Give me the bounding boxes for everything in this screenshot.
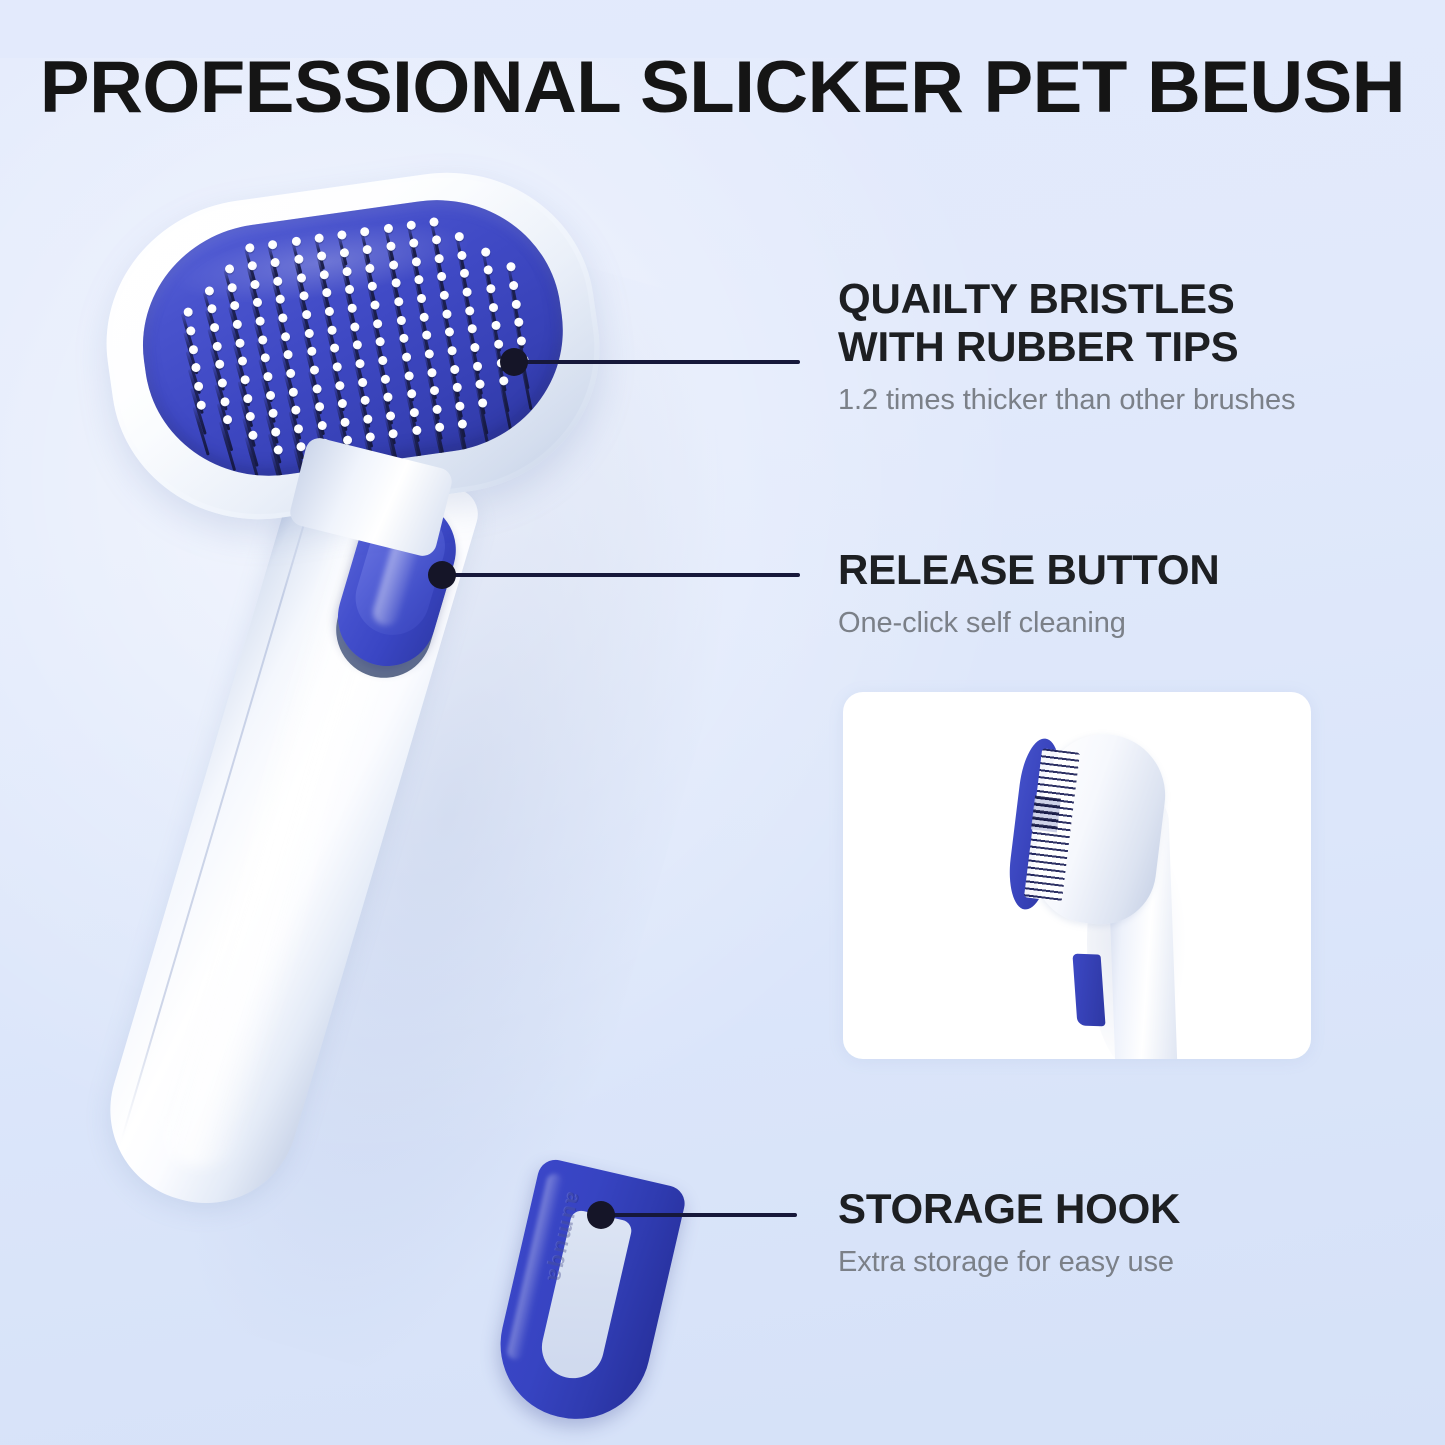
- bristle-rubber-tip: [194, 381, 204, 391]
- bristle-rubber-tip: [355, 359, 365, 369]
- bristle-rubber-tip: [388, 429, 398, 439]
- bristle-rubber-tip: [465, 305, 475, 315]
- bristle-rubber-tip: [324, 306, 334, 316]
- bristle-rubber-tip: [452, 382, 462, 392]
- bristle-rubber-tip: [383, 223, 393, 233]
- bristle-rubber-tip: [276, 294, 286, 304]
- bristle-rubber-tip: [488, 302, 498, 312]
- bristle-rubber-tip: [432, 404, 442, 414]
- bristle-rubber-tip: [439, 290, 449, 300]
- bristle-rubber-tip: [406, 220, 416, 230]
- bristle-rubber-tip: [255, 316, 265, 326]
- bristle-rubber-tip: [350, 322, 360, 332]
- bristle-rubber-tip: [396, 315, 406, 325]
- inset-product-photo: [843, 692, 1311, 1059]
- bristle-rubber-tip: [411, 257, 421, 267]
- bristle-rubber-tip: [183, 307, 193, 317]
- callout-release-headline-line1: RELEASE BUTTON: [838, 546, 1438, 594]
- bristle-rubber-tip: [339, 248, 349, 258]
- bristle-rubber-tip: [475, 379, 485, 389]
- leader-line-hook: [609, 1213, 797, 1217]
- bristle-rubber-tip: [212, 341, 222, 351]
- bristle-rubber-tip: [447, 346, 457, 356]
- bristle-rubber-tip: [332, 362, 342, 372]
- leader-line-release: [450, 573, 800, 577]
- bristle-rubber-tip: [235, 338, 245, 348]
- bristle-rubber-tip: [240, 375, 250, 385]
- bristle-rubber-tip: [314, 233, 324, 243]
- callout-hook-headline: STORAGE HOOK: [838, 1185, 1438, 1233]
- bristle-rubber-tip: [337, 229, 347, 239]
- bristle-rubber-tip: [278, 313, 288, 323]
- bristle-rubber-tip: [370, 300, 380, 310]
- bristle-rubber-tip: [368, 282, 378, 292]
- bristle-rubber-tip: [383, 392, 393, 402]
- bristle-rubber-tip: [273, 276, 283, 286]
- bristle-rubber-tip: [416, 294, 426, 304]
- bristle-rubber-tip: [358, 377, 368, 387]
- bristle-rubber-tip: [365, 263, 375, 273]
- bristle-rubber-tip: [196, 400, 206, 410]
- bristle-rubber-tip: [189, 344, 199, 354]
- bristle-rubber-tip: [245, 242, 255, 252]
- bristle-rubber-tip: [419, 312, 429, 322]
- bristle-rubber-tip: [442, 309, 452, 319]
- bristle-rubber-tip: [462, 287, 472, 297]
- callout-storage-hook: STORAGE HOOK Extra storage for easy use: [838, 1185, 1438, 1280]
- bristle-rubber-tip: [340, 417, 350, 427]
- callout-release-button: RELEASE BUTTON One-click self cleaning: [838, 546, 1438, 641]
- bristle-rubber-tip: [347, 303, 357, 313]
- bristle-rubber-tip: [327, 325, 337, 335]
- leader-line-bristles: [522, 360, 800, 364]
- bristle-rubber-tip: [511, 299, 521, 309]
- leader-dot-bristles-icon: [500, 348, 528, 376]
- bristle-rubber-tip: [427, 367, 437, 377]
- bristle-rubber-tip: [291, 405, 301, 415]
- bristle-rubber-tip: [360, 395, 370, 405]
- bristle-rubber-tip: [386, 411, 396, 421]
- bristle-rubber-tip: [457, 250, 467, 260]
- bristle-rubber-tip: [219, 396, 229, 406]
- callout-bristles-headline-line2: WITH RUBBER TIPS: [838, 323, 1438, 371]
- bristle-rubber-tip: [268, 239, 278, 249]
- bristle-rubber-tip: [291, 236, 301, 246]
- bristle-rubber-tip: [455, 401, 465, 411]
- bristle-rubber-tip: [450, 364, 460, 374]
- bristle-rubber-tip: [319, 270, 329, 280]
- leader-dot-hook-icon: [587, 1201, 615, 1229]
- bristle-rubber-tip: [508, 281, 518, 291]
- bristle-rubber-tip: [470, 342, 480, 352]
- bristle-rubber-tip: [460, 269, 470, 279]
- inset-photo-card: [843, 692, 1311, 1059]
- bristle-rubber-tip: [232, 319, 242, 329]
- bristle-rubber-tip: [270, 258, 280, 268]
- bristle-rubber-tip: [191, 363, 201, 373]
- bristle-rubber-tip: [409, 407, 419, 417]
- bristle-rubber-tip: [335, 380, 345, 390]
- bristle-field: [154, 191, 556, 482]
- bristle-rubber-tip: [294, 424, 304, 434]
- callout-hook-subtext: Extra storage for easy use: [838, 1245, 1438, 1280]
- callout-bristles: QUAILTY BRISTLES WITH RUBBER TIPS 1.2 ti…: [838, 275, 1438, 418]
- bristle-rubber-tip: [268, 408, 278, 418]
- bristle-rubber-tip: [431, 235, 441, 245]
- bristle-rubber-tip: [258, 335, 268, 345]
- bristle-rubber-tip: [283, 350, 293, 360]
- bristle-rubber-tip: [434, 253, 444, 263]
- bristle-rubber-tip: [186, 326, 196, 336]
- product-illustration: aumuqa: [0, 0, 900, 1445]
- bristle-rubber-tip: [375, 337, 385, 347]
- bristle-rubber-tip: [271, 427, 281, 437]
- bristle-rubber-tip: [260, 353, 270, 363]
- bristle-rubber-tip: [227, 283, 237, 293]
- bristle-rubber-tip: [429, 217, 439, 227]
- leader-dot-release-icon: [428, 561, 456, 589]
- bristle-rubber-tip: [362, 245, 372, 255]
- callout-bristles-subtext: 1.2 times thicker than other brushes: [838, 383, 1438, 418]
- bristle-rubber-tip: [455, 232, 465, 242]
- bristle-rubber-tip: [248, 430, 258, 440]
- bristle-rubber-tip: [352, 340, 362, 350]
- bristle-rubber-tip: [381, 374, 391, 384]
- bristle-rubber-tip: [373, 318, 383, 328]
- bristle-rubber-tip: [286, 368, 296, 378]
- bristle-rubber-tip: [242, 393, 252, 403]
- bristle-rubber-tip: [265, 390, 275, 400]
- bristle-rubber-tip: [317, 420, 327, 430]
- callout-hook-headline-line1: STORAGE HOOK: [838, 1185, 1438, 1233]
- page-title: PROFESSIONAL SLICKER PET BEUSH: [0, 50, 1445, 126]
- bristle-rubber-tip: [378, 355, 388, 365]
- bristle-rubber-tip: [444, 327, 454, 337]
- inset-bristles-shadowed: [1031, 796, 1061, 833]
- product-infographic-poster: PROFESSIONAL SLICKER PET BEUSH: [0, 0, 1445, 1445]
- bristle-rubber-tip: [467, 324, 477, 334]
- bristle-rubber-tip: [473, 361, 483, 371]
- bristle-rubber-tip: [424, 349, 434, 359]
- bristle-rubber-tip: [404, 370, 414, 380]
- bristle-rubber-tip: [516, 336, 526, 346]
- bristle-rubber-tip: [360, 226, 370, 236]
- inset-release-button: [1072, 954, 1105, 1027]
- bristle-rubber-tip: [250, 279, 260, 289]
- callout-release-headline: RELEASE BUTTON: [838, 546, 1438, 594]
- bristle-rubber-tip: [247, 261, 257, 271]
- callout-bristles-headline: QUAILTY BRISTLES WITH RUBBER TIPS: [838, 275, 1438, 371]
- bristle-rubber-tip: [263, 371, 273, 381]
- bristle-rubber-tip: [342, 266, 352, 276]
- bristle-rubber-tip: [478, 398, 488, 408]
- callout-release-subtext: One-click self cleaning: [838, 606, 1438, 641]
- bristle-rubber-tip: [311, 383, 321, 393]
- bristle-rubber-tip: [363, 414, 373, 424]
- bristle-rubber-tip: [304, 328, 314, 338]
- callout-bristles-headline-line1: QUAILTY BRISTLES: [838, 275, 1438, 323]
- bristle-rubber-tip: [281, 331, 291, 341]
- bristle-rubber-tip: [288, 387, 298, 397]
